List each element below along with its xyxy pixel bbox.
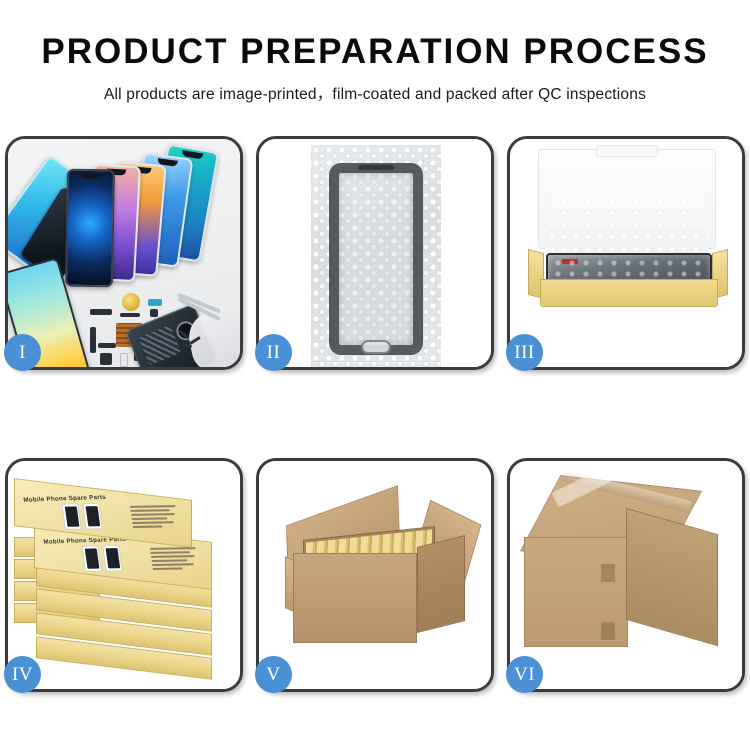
step-badge-4: IV bbox=[4, 656, 41, 693]
carton-side-face-icon bbox=[626, 508, 718, 646]
carton-front-face-icon bbox=[524, 537, 628, 647]
step-image-stacked-retail-boxes: Mobile Phone Spare Parts Mobi bbox=[8, 461, 240, 689]
step-badge-2: II bbox=[255, 334, 292, 371]
phone-screen-dark-icon bbox=[65, 169, 115, 288]
step-panel-3: III bbox=[507, 136, 745, 370]
box-product-thumbnails bbox=[81, 545, 122, 572]
carton-side-face-icon bbox=[417, 535, 465, 633]
box-thumb bbox=[81, 545, 101, 571]
home-button-icon bbox=[361, 340, 391, 354]
step-image-open-carton-filled bbox=[259, 461, 491, 689]
box-spec-lines bbox=[150, 547, 203, 570]
carton-flap-tab-icon bbox=[601, 622, 615, 640]
earpiece-slot-icon bbox=[358, 165, 394, 170]
foam-insert-icon bbox=[546, 195, 708, 261]
step-panel-1: I bbox=[5, 136, 243, 370]
step-image-sealed-carton bbox=[510, 461, 742, 689]
box-spec-lines bbox=[130, 505, 183, 528]
kraft-box-front-icon bbox=[540, 279, 718, 307]
page-title: PRODUCT PREPARATION PROCESS bbox=[0, 34, 750, 69]
red-label-mark-icon bbox=[562, 259, 578, 264]
step-image-screen-in-open-kraft-box bbox=[510, 139, 742, 367]
step-panel-6: VI bbox=[507, 458, 745, 692]
step-image-phone-parts-collage bbox=[8, 139, 240, 367]
step-badge-1: I bbox=[4, 334, 41, 371]
product-preparation-infographic: PRODUCT PREPARATION PROCESS All products… bbox=[0, 0, 750, 750]
screws-group bbox=[178, 331, 212, 351]
bubble-wrap-icon bbox=[311, 145, 441, 367]
box-thumb bbox=[82, 503, 102, 529]
step-panel-4: Mobile Phone Spare Parts Mobi bbox=[5, 458, 243, 692]
page-subtitle: All products are image-printed，film-coat… bbox=[0, 82, 750, 104]
process-steps-grid: I II bbox=[0, 136, 750, 692]
step-badge-6: VI bbox=[506, 656, 543, 693]
box-thumb bbox=[61, 503, 81, 529]
retail-box-stack: Mobile Phone Spare Parts Mobi bbox=[10, 479, 238, 677]
header: PRODUCT PREPARATION PROCESS All products… bbox=[0, 0, 750, 104]
box-thumb bbox=[102, 545, 122, 571]
step-badge-3: III bbox=[506, 334, 543, 371]
carton-flap-tab-icon bbox=[601, 564, 615, 582]
step-panel-5: V bbox=[256, 458, 494, 692]
step-image-bubble-wrapped-screen bbox=[259, 139, 491, 367]
step-panel-2: II bbox=[256, 136, 494, 370]
carton-front-face-icon bbox=[293, 553, 417, 643]
step-badge-5: V bbox=[255, 656, 292, 693]
box-product-thumbnails bbox=[61, 503, 102, 530]
wrapped-screen-icon bbox=[329, 163, 423, 355]
